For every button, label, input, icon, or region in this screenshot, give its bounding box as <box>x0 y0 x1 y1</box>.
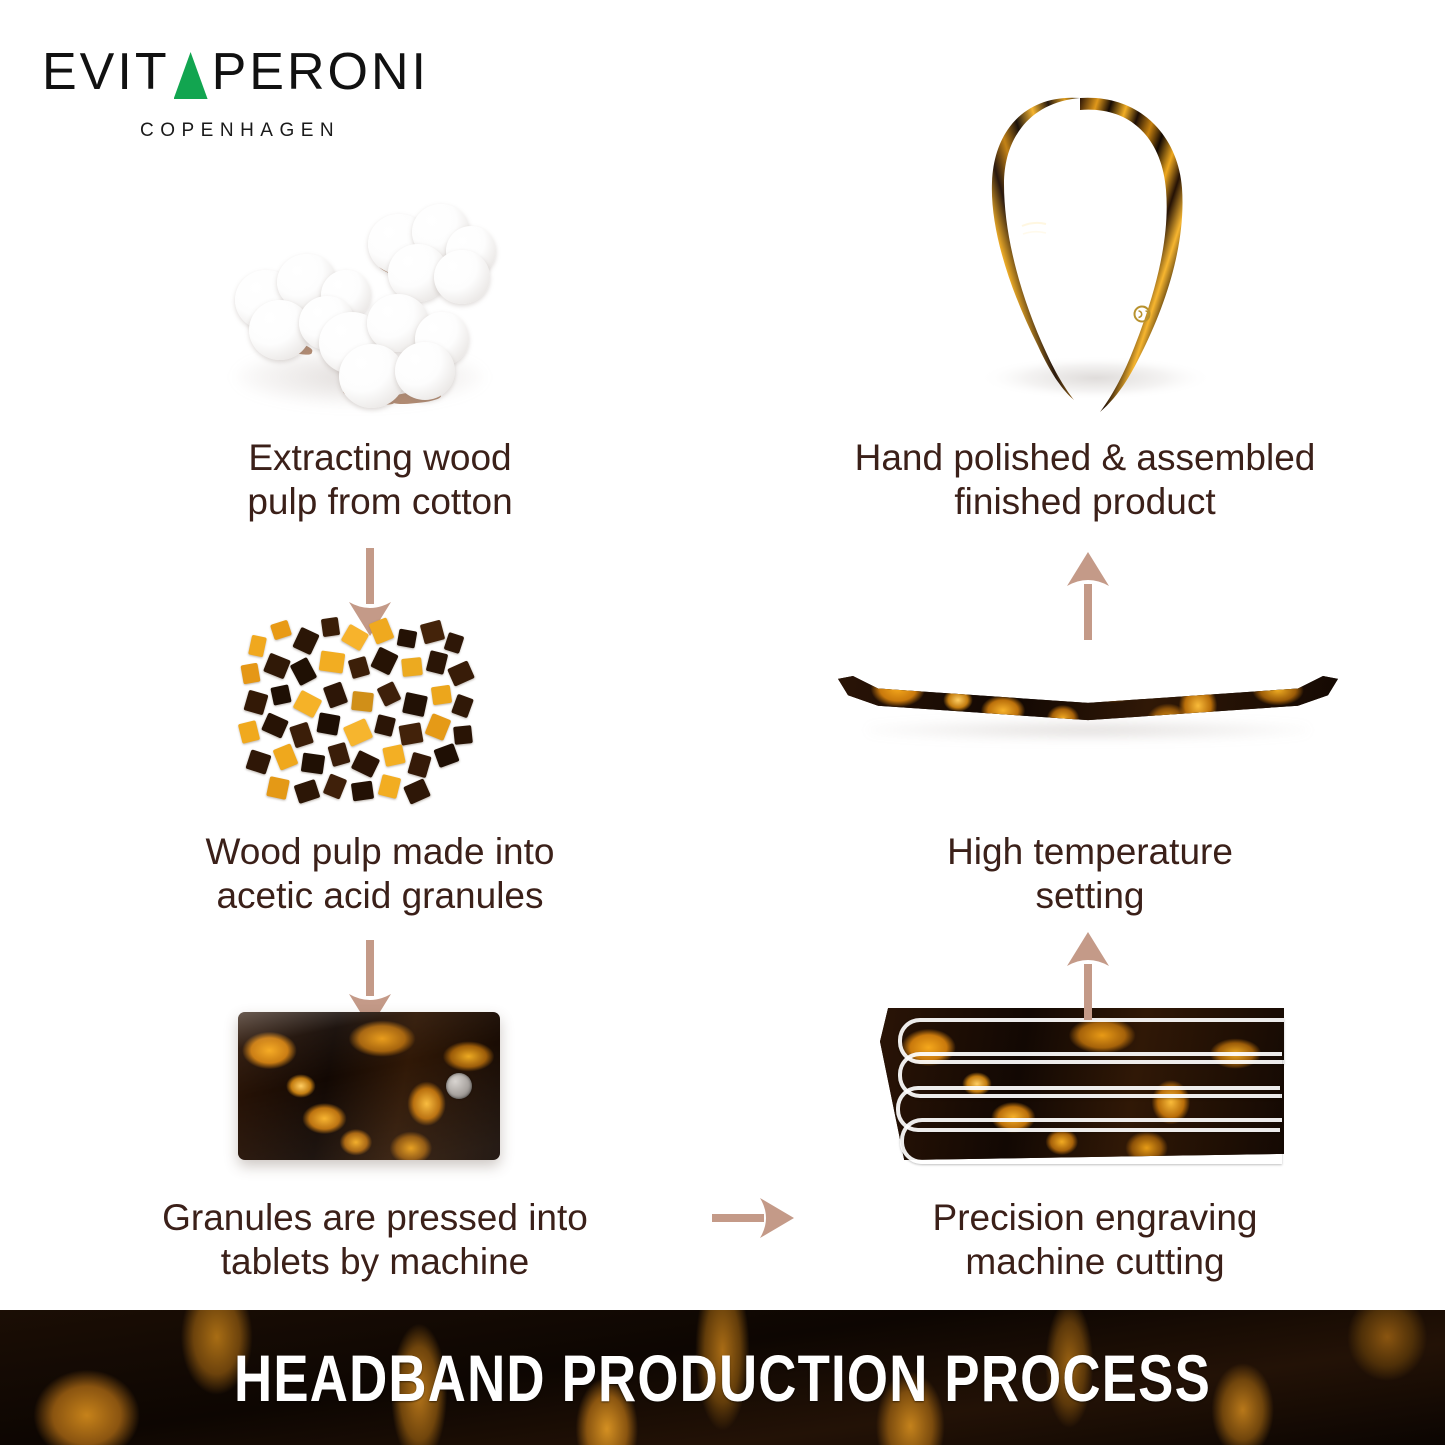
step-3-caption-line-1: Granules are pressed into <box>90 1196 660 1240</box>
step-2-caption: Wood pulp made into acetic acid granules <box>120 830 640 917</box>
step-4-caption-line-1: Precision engraving <box>860 1196 1330 1240</box>
arrow-up-step4-to-step5 <box>1058 928 1118 1020</box>
step-4-caption: Precision engraving machine cutting <box>860 1196 1330 1283</box>
brand-wordmark: EVIT PERONI <box>42 42 462 102</box>
acetic-acid-granules-photo <box>240 612 480 812</box>
step-5-caption: High temperature setting <box>880 830 1300 917</box>
cut-outline <box>900 1118 1282 1164</box>
step-5-caption-line-2: setting <box>880 874 1300 918</box>
brand-tagline: COPENHAGEN <box>140 120 462 142</box>
headband-svg <box>960 78 1240 426</box>
headband-back-band <box>992 98 1080 400</box>
infographic-page: EVIT PERONI COPENHAGEN <box>0 0 1445 1445</box>
flat-headband-strip-photo <box>838 664 1338 744</box>
headband-shadow <box>978 356 1214 400</box>
cotton-bolls-photo <box>225 200 525 415</box>
wordmark-part-two: PERONI <box>212 42 429 102</box>
step-6-caption-line-2: finished product <box>800 480 1370 524</box>
step-1-caption-line-1: Extracting wood <box>120 436 640 480</box>
engraved-brand-mark <box>1022 223 1046 226</box>
cut-sheet-photo <box>880 1008 1284 1160</box>
green-triangle-a-icon <box>174 52 208 99</box>
headband-flat-strip <box>838 676 1338 724</box>
strip-shadow <box>868 720 1308 740</box>
step-4-caption-line-2: machine cutting <box>860 1240 1330 1284</box>
step-1-caption-line-2: pulp from cotton <box>120 480 640 524</box>
finished-headband-photo <box>960 78 1240 426</box>
bottom-banner: HEADBAND PRODUCTION PROCESS <box>0 1310 1445 1445</box>
step-3-caption-line-2: tablets by machine <box>90 1240 660 1284</box>
brand-logo: EVIT PERONI COPENHAGEN <box>42 42 462 162</box>
step-2-caption-line-1: Wood pulp made into <box>120 830 640 874</box>
step-3-caption: Granules are pressed into tablets by mac… <box>90 1196 660 1283</box>
step-1-caption: Extracting wood pulp from cotton <box>120 436 640 523</box>
arrow-right-step3-to-step4 <box>712 1195 798 1241</box>
wordmark-part-one: EVIT <box>42 42 170 102</box>
banner-title: HEADBAND PRODUCTION PROCESS <box>145 1310 1301 1445</box>
cotton-boll <box>313 292 473 420</box>
step-5-caption-line-1: High temperature <box>880 830 1300 874</box>
step-6-caption: Hand polished & assembled finished produ… <box>800 436 1370 523</box>
step-6-caption-line-1: Hand polished & assembled <box>800 436 1370 480</box>
arrow-up-step5-to-step6 <box>1058 548 1118 640</box>
tablet-hole-icon <box>446 1073 472 1099</box>
step-2-caption-line-2: acetic acid granules <box>120 874 640 918</box>
tortoise-tablet-photo <box>238 1012 500 1160</box>
